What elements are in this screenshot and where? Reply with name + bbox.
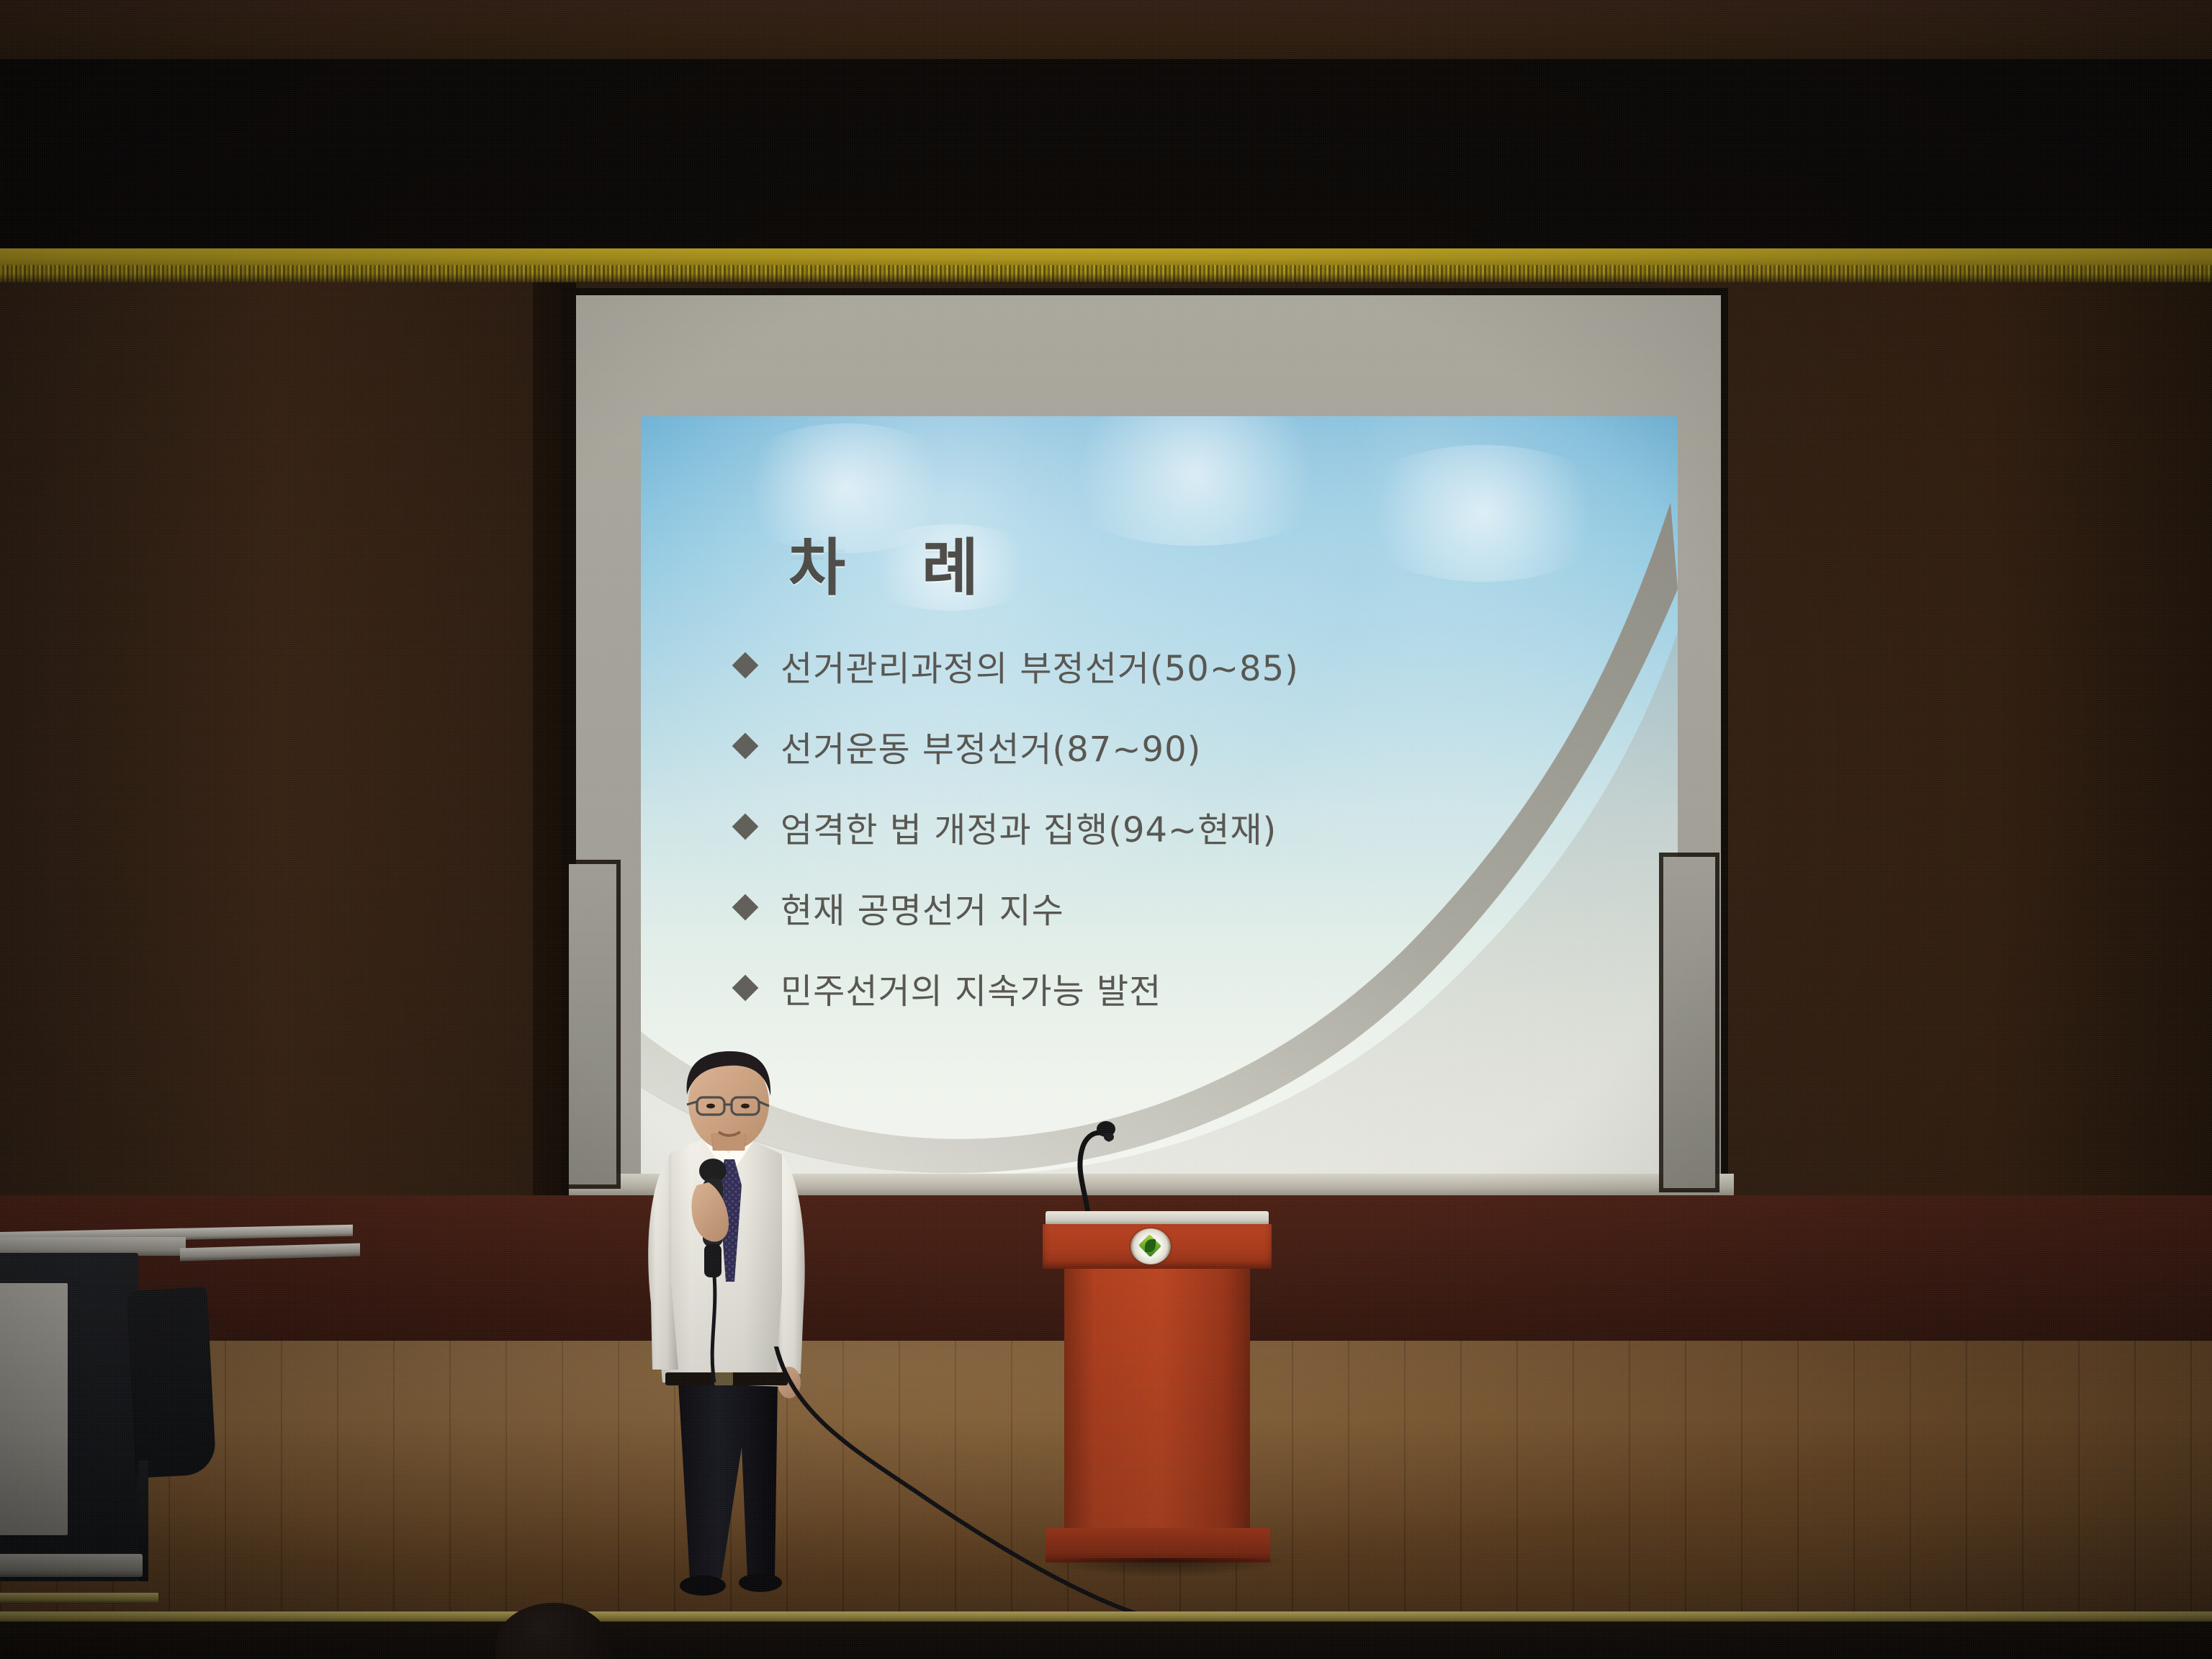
diamond-bullet-icon	[732, 733, 759, 760]
slide-bullet-text: 선거운동 부정선거(87~90)	[781, 721, 1201, 771]
wall-left-column	[0, 282, 554, 1211]
slide-bullet-item: 엄격한 법 개정과 집행(94~현재)	[736, 786, 1643, 867]
chair	[126, 1287, 216, 1478]
slide-title: 차 례	[788, 517, 1006, 607]
diamond-bullet-icon	[732, 652, 759, 679]
slide-bullet-text: 현재 공명선거 지수	[781, 882, 1064, 932]
slide-bullet-list: 선거관리과정의 부정선거(50~85) 선거운동 부정선거(87~90) 엄격한…	[736, 625, 1643, 1028]
stage-front-face	[0, 1622, 2212, 1659]
diamond-bullet-icon	[732, 894, 759, 921]
presentation-photo-scene: 차 례 차 례 선거관리과정의 부정선거(50~85) 선거운동 부정선거(87…	[0, 0, 2212, 1659]
slide-bullet-item: 선거운동 부정선거(87~90)	[736, 706, 1643, 786]
slide-bullet-text: 엄격한 법 개정과 집행(94~현재)	[781, 801, 1277, 852]
shoe	[680, 1575, 726, 1596]
acoustic-panel-right	[1663, 857, 1715, 1188]
av-console-base	[0, 1554, 143, 1577]
av-console-front-panel	[0, 1283, 68, 1535]
slide-bullet-text: 민주선거의 지속가능 발전	[781, 963, 1161, 1013]
stage-valance	[0, 59, 2212, 259]
wall-right-column	[1656, 282, 2212, 1211]
acoustic-panel-left	[569, 864, 616, 1184]
podium-top-surface	[1046, 1211, 1269, 1226]
slide-bullet-item: 선거관리과정의 부정선거(50~85)	[736, 625, 1643, 706]
ceiling-band	[0, 0, 2212, 63]
diamond-bullet-icon	[732, 975, 759, 1002]
slide-bullet-item: 현재 공명선거 지수	[736, 867, 1643, 948]
slide-bullet-item: 민주선거의 지속가능 발전	[736, 948, 1643, 1028]
diamond-bullet-icon	[732, 814, 759, 840]
av-console-rail	[0, 1593, 158, 1603]
microphone-cable	[763, 1346, 1166, 1635]
slide-bullet-text: 선거관리과정의 부정선거(50~85)	[781, 640, 1299, 691]
podium-emblem-icon	[1130, 1228, 1171, 1264]
